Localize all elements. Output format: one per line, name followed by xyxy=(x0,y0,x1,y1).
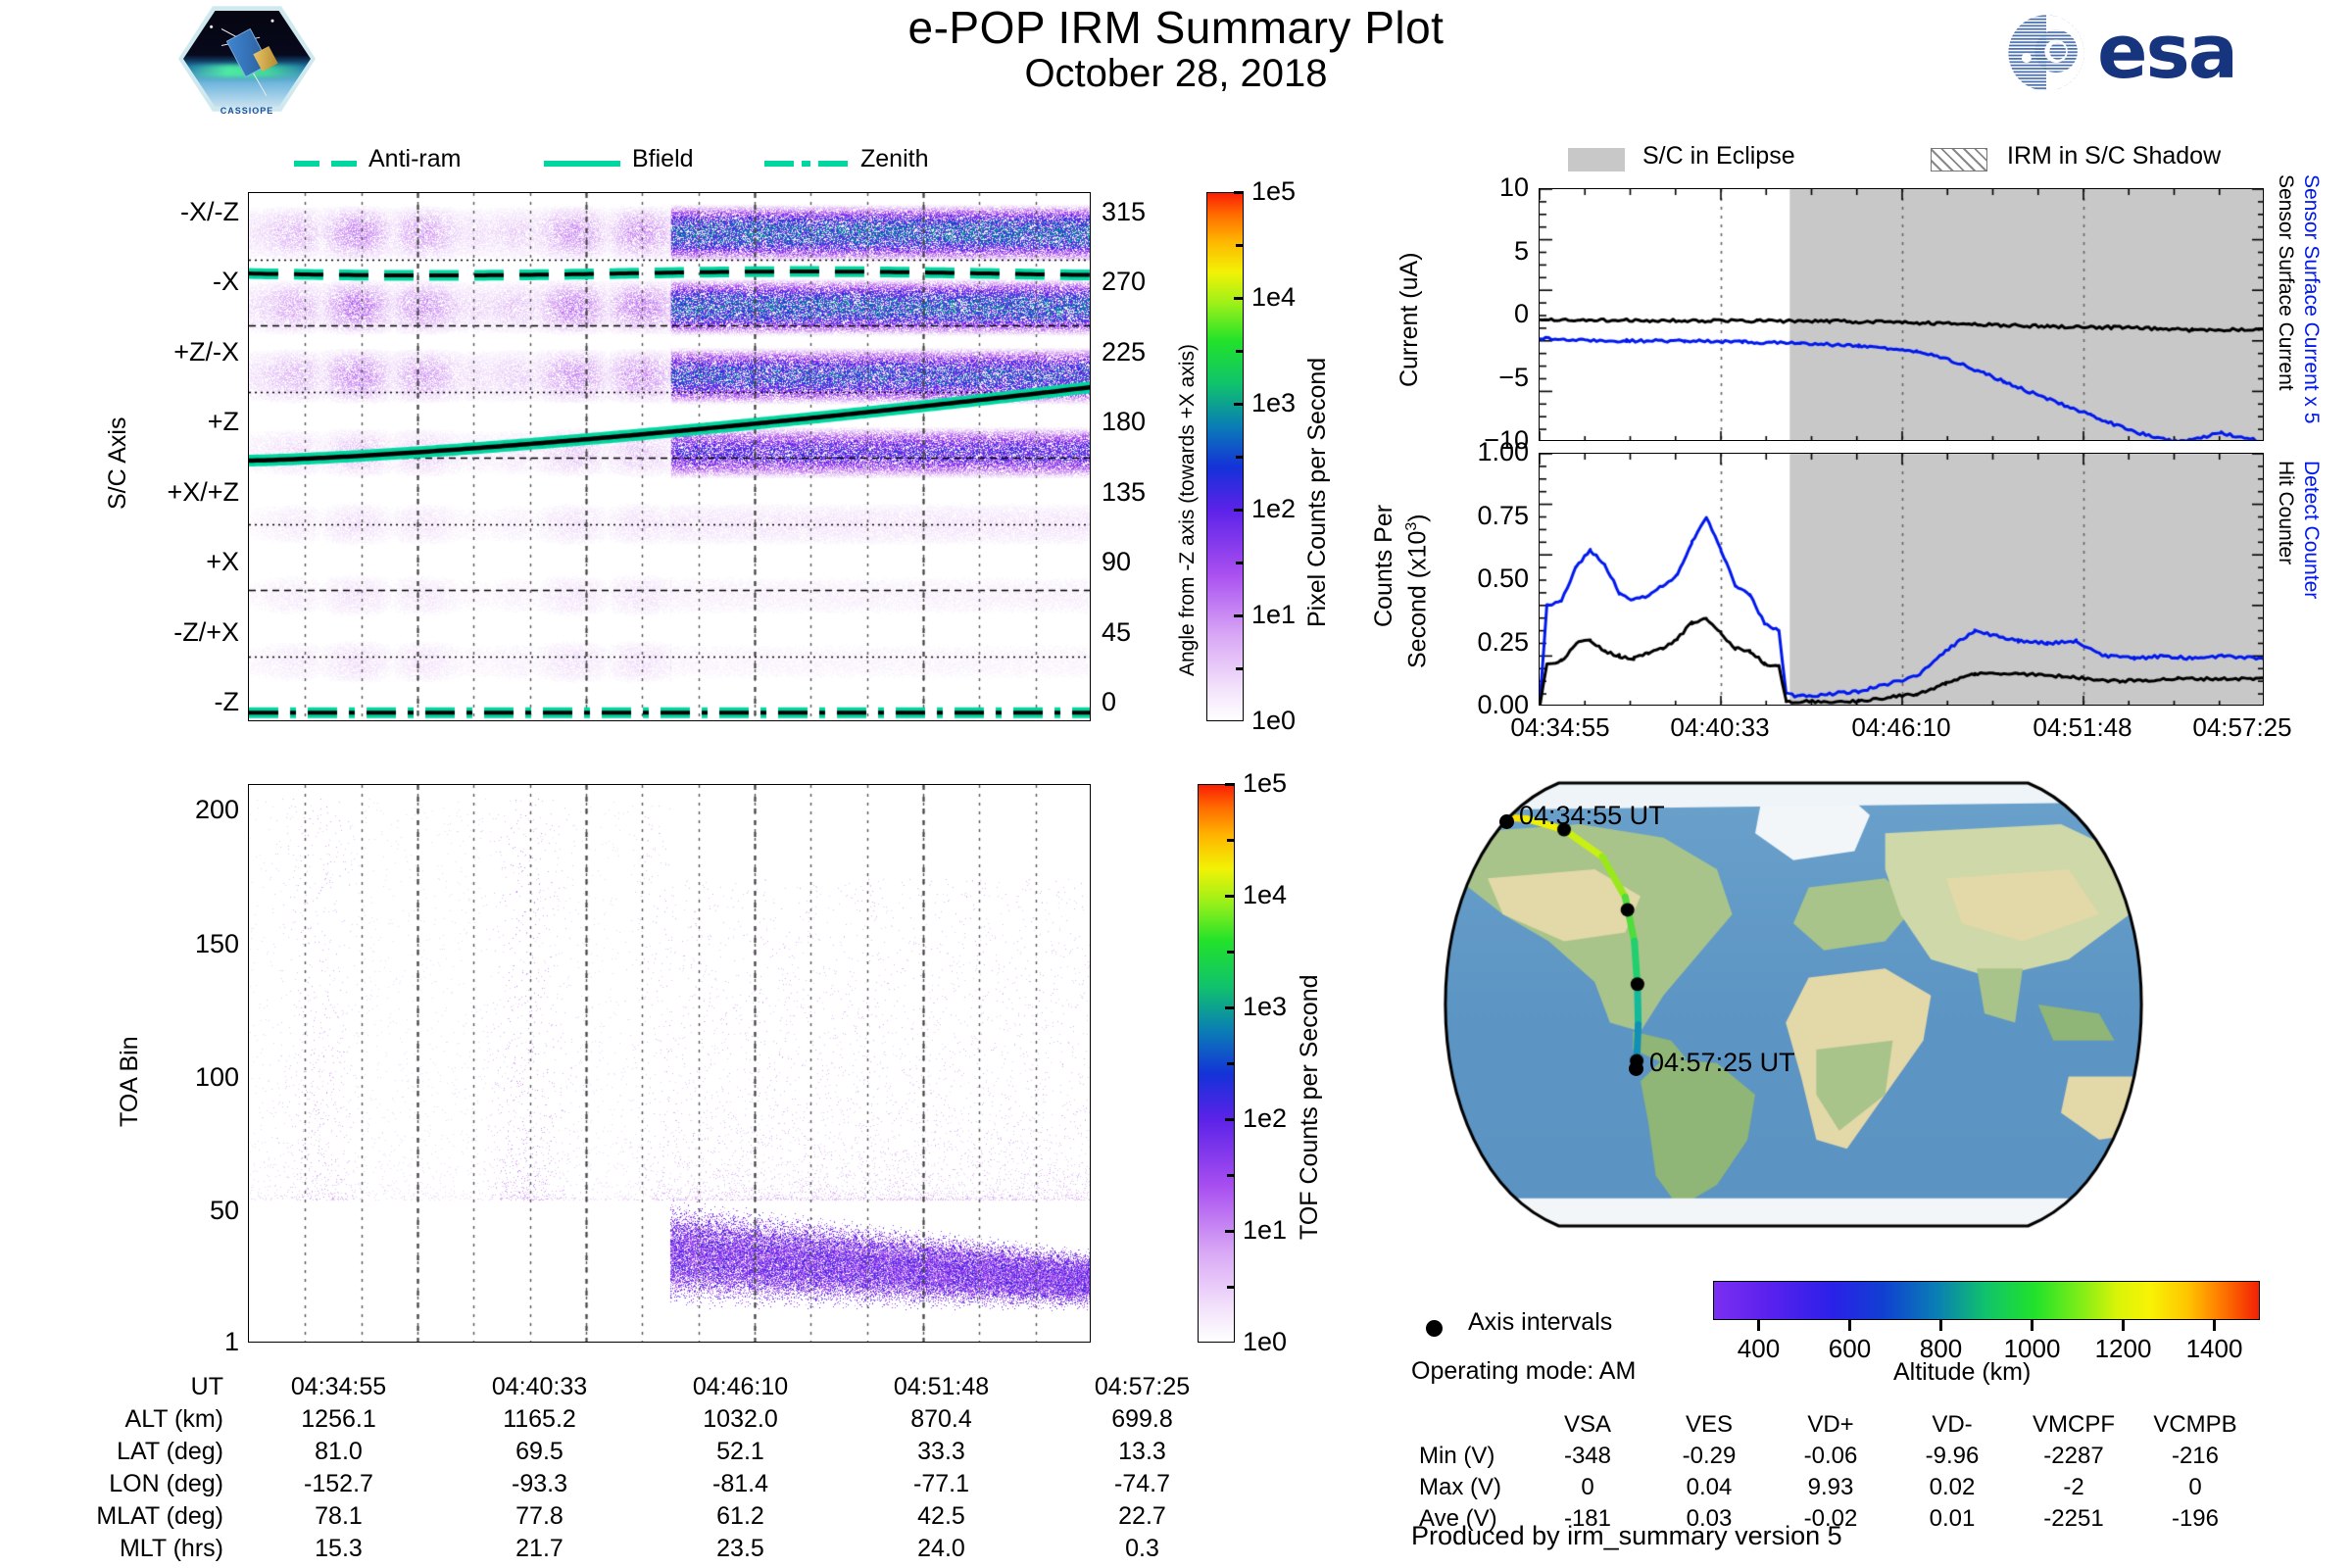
sc-axis-ytick-1: -X xyxy=(213,267,239,297)
spectrogram-legend: Anti-ram Bfield Zenith xyxy=(294,145,1000,184)
tof-cbar-minortick-0 xyxy=(1227,1286,1235,1289)
legend-label-irm-shadow: IRM in S/C Shadow xyxy=(2007,142,2221,171)
altitude-cbar-ticklabel-0: 400 xyxy=(1738,1334,1780,1364)
counts-ytick-3: 0.25 xyxy=(1477,627,1529,658)
voltage-table-cell: 0.02 xyxy=(1891,1472,2013,1503)
orbit-table-cell: 21.7 xyxy=(440,1534,639,1564)
tof-cbar-ticklabel-5: 1e5 xyxy=(1243,768,1287,799)
toa-ytick-4: 200 xyxy=(195,795,239,825)
voltage-table-cell: 0.04 xyxy=(1648,1472,1770,1503)
toa-ytick-3: 150 xyxy=(195,929,239,959)
altitude-cbar-tickmark-1 xyxy=(1848,1320,1851,1331)
legend-label-anti-ram: Anti-ram xyxy=(368,145,461,173)
voltage-table-colheader: VSA xyxy=(1527,1409,1648,1441)
legend-swatch-anti-ram xyxy=(294,161,319,167)
counts-xtick-2: 04:46:10 xyxy=(1851,712,1950,743)
orbit-table-cell: 04:34:55 xyxy=(239,1372,438,1402)
tof-cbar-tickmark-1 xyxy=(1225,1230,1235,1233)
voltage-table-cell: -2287 xyxy=(2013,1441,2134,1472)
legend-label-bfield: Bfield xyxy=(632,145,694,173)
orbit-table-cell: 78.1 xyxy=(239,1501,438,1532)
sc-axis-ylabel: S/C Axis xyxy=(104,417,132,510)
orbit-table-cell: 0.3 xyxy=(1043,1534,1242,1564)
angle-ytick-2: 225 xyxy=(1102,337,1146,367)
footer-text: Produced by irm_summary version 5 xyxy=(1411,1521,1842,1551)
current-plot-canvas xyxy=(1540,189,2264,441)
orbit-table-rowlabel: UT xyxy=(71,1372,237,1402)
orbit-table-cell: 04:57:25 xyxy=(1043,1372,1242,1402)
voltage-table-cell: -0.06 xyxy=(1770,1441,1891,1472)
pixel-cbar-tickmark-4 xyxy=(1234,297,1244,300)
tof-cbar-minortick-2 xyxy=(1227,1062,1235,1065)
altitude-cbar-ticklabel-5: 1400 xyxy=(2186,1334,2243,1364)
world-map-canvas xyxy=(1411,779,2176,1230)
legend-swatch-eclipse xyxy=(1568,148,1625,171)
voltage-table-header-row: VSAVESVD+VD-VMCPFVCMPB xyxy=(1419,1409,2256,1441)
voltage-table-colheader: VD- xyxy=(1891,1409,2013,1441)
toa-ytick-2: 100 xyxy=(195,1062,239,1093)
current-panel[interactable] xyxy=(1539,188,2264,441)
orbit-table-cell: 61.2 xyxy=(641,1501,840,1532)
orbit-table-rowlabel: LON (deg) xyxy=(71,1469,237,1499)
voltage-table-colheader: VCMPB xyxy=(2134,1409,2256,1441)
orbit-table-cell: 04:40:33 xyxy=(440,1372,639,1402)
esa-logo: esa xyxy=(2003,10,2278,96)
counts-right-label-black: Hit Counter xyxy=(2274,461,2297,564)
pixel-cbar-ticklabel-0: 1e0 xyxy=(1251,706,1296,736)
counts-panel[interactable] xyxy=(1539,453,2264,706)
orbit-table-cell: -74.7 xyxy=(1043,1469,1242,1499)
orbit-table-cell: 24.0 xyxy=(842,1534,1041,1564)
legend-label-eclipse: S/C in Eclipse xyxy=(1642,142,1795,171)
orbit-table-cell: 15.3 xyxy=(239,1534,438,1564)
orbit-table-cell: 81.0 xyxy=(239,1437,438,1467)
voltage-table-colheader: VES xyxy=(1648,1409,1770,1441)
pixel-cbar-minortick-3 xyxy=(1236,350,1244,353)
axis-interval-marker-icon xyxy=(1426,1320,1443,1337)
map-end-marker xyxy=(1629,1061,1643,1076)
orbit-table-cell: 04:51:48 xyxy=(842,1372,1041,1402)
angle-ytick-7: 0 xyxy=(1102,687,1116,717)
sc-axis-ytick-5: +X xyxy=(206,547,239,577)
page-subtitle: October 28, 2018 xyxy=(0,51,2352,96)
orbit-parameter-table: UT04:34:5504:40:3304:46:1004:51:4804:57:… xyxy=(69,1370,1244,1566)
orbit-table-cell: 52.1 xyxy=(641,1437,840,1467)
orbit-table-cell: 870.4 xyxy=(842,1404,1041,1435)
altitude-colorbar-label: Altitude (km) xyxy=(1893,1358,2031,1387)
orbit-table-cell: 42.5 xyxy=(842,1501,1041,1532)
counts-xtick-1: 04:40:33 xyxy=(1670,712,1769,743)
angle-ytick-5: 90 xyxy=(1102,547,1131,577)
orbit-table-row: MLT (hrs)15.321.723.524.00.3 xyxy=(71,1534,1242,1564)
altitude-cbar-ticklabel-4: 1200 xyxy=(2095,1334,2152,1364)
voltage-table-cell: -2 xyxy=(2013,1472,2134,1503)
orbit-table-row: LON (deg)-152.7-93.3-81.4-77.1-74.7 xyxy=(71,1469,1242,1499)
pixel-counts-colorbar-label: Pixel Counts per Second xyxy=(1303,358,1332,627)
current-ytick-1: 5 xyxy=(1514,236,1529,267)
altitude-cbar-tickmark-3 xyxy=(2031,1320,2033,1331)
current-ytick-2: 0 xyxy=(1514,299,1529,329)
toa-bin-ylabel: TOA Bin xyxy=(116,1036,144,1127)
tof-cbar-ticklabel-1: 1e1 xyxy=(1243,1215,1287,1246)
voltage-table-cell: -9.96 xyxy=(1891,1441,2013,1472)
orbit-table-row: UT04:34:5504:40:3304:46:1004:51:4804:57:… xyxy=(71,1372,1242,1402)
voltage-table-cell: -0.29 xyxy=(1648,1441,1770,1472)
pixel-cbar-minortick-2 xyxy=(1236,456,1244,459)
pixel-cbar-ticklabel-5: 1e5 xyxy=(1251,176,1296,207)
orbit-table-cell: 13.3 xyxy=(1043,1437,1242,1467)
map-start-label: 04:34:55 UT xyxy=(1519,801,1665,831)
tof-cbar-ticklabel-0: 1e0 xyxy=(1243,1327,1287,1357)
orbit-table-rowlabel: MLT (hrs) xyxy=(71,1534,237,1564)
pixel-cbar-tickmark-5 xyxy=(1234,191,1244,194)
pixel-cbar-tickmark-2 xyxy=(1234,509,1244,512)
angle-ytick-3: 180 xyxy=(1102,407,1146,437)
voltage-table-colheader: VD+ xyxy=(1770,1409,1891,1441)
sc-axis-ytick-6: -Z/+X xyxy=(173,617,239,648)
current-ylabel: Current (uA) xyxy=(1396,252,1424,387)
current-right-label-black: Sensor Surface Current xyxy=(2274,174,2297,391)
toa-bin-spectrogram-canvas xyxy=(249,785,1091,1343)
legend-swatch-anti-ram-2 xyxy=(331,161,357,167)
tof-cbar-ticklabel-2: 1e2 xyxy=(1243,1103,1287,1134)
orbit-table-cell: 1032.0 xyxy=(641,1404,840,1435)
angle-axis-label: Angle from -Z axis (towards +X axis) xyxy=(1176,344,1200,676)
sc-axis-ytick-2: +Z/-X xyxy=(173,337,239,367)
legend-swatch-zenith-dot xyxy=(802,161,810,167)
orbit-table-cell: -152.7 xyxy=(239,1469,438,1499)
counts-ytick-2: 0.50 xyxy=(1477,563,1529,594)
operating-mode-label: Operating mode: AM xyxy=(1411,1357,1636,1386)
counts-ylabel-line1: Counts Per xyxy=(1370,505,1398,627)
toa-ytick-0: 1 xyxy=(224,1327,239,1357)
orbit-ground-track-map[interactable]: 04:34:55 UT 04:57:25 UT xyxy=(1411,779,2176,1230)
current-ytick-0: 10 xyxy=(1499,172,1529,203)
angle-ytick-6: 45 xyxy=(1102,617,1131,648)
counts-ytick-0: 1.00 xyxy=(1477,437,1529,467)
tof-cbar-tickmark-3 xyxy=(1225,1006,1235,1009)
voltage-table-colheader: VMCPF xyxy=(2013,1409,2134,1441)
voltage-table-cell: -196 xyxy=(2134,1503,2256,1535)
pixel-cbar-minortick-1 xyxy=(1236,562,1244,564)
altitude-cbar-tickmark-0 xyxy=(1757,1320,1760,1331)
tof-cbar-minortick-4 xyxy=(1227,839,1235,842)
current-right-label-blue: Sensor Surface Current x 5 xyxy=(2299,174,2323,423)
orbit-table-rowlabel: ALT (km) xyxy=(71,1404,237,1435)
orbit-table-cell: -77.1 xyxy=(842,1469,1041,1499)
legend-swatch-zenith xyxy=(764,161,794,167)
voltage-table-rowlabel: Max (V) xyxy=(1419,1472,1527,1503)
page-title: e-POP IRM Summary Plot xyxy=(0,4,2352,51)
pixel-cbar-ticklabel-3: 1e3 xyxy=(1251,388,1296,418)
pixel-cbar-ticklabel-1: 1e1 xyxy=(1251,600,1296,630)
voltage-table-cell: 0 xyxy=(1527,1472,1648,1503)
orbit-table-cell: 77.8 xyxy=(440,1501,639,1532)
current-ytick-3: −5 xyxy=(1498,363,1529,393)
orbit-table-cell: 1165.2 xyxy=(440,1404,639,1435)
pixel-cbar-ticklabel-2: 1e2 xyxy=(1251,494,1296,524)
voltage-table-cell: 0.01 xyxy=(1891,1503,2013,1535)
counts-xtick-0: 04:34:55 xyxy=(1510,712,1609,743)
angle-ytick-0: 315 xyxy=(1102,197,1146,227)
legend-swatch-zenith-2 xyxy=(818,161,848,167)
orbit-table-cell: 699.8 xyxy=(1043,1404,1242,1435)
orbit-table-cell: 23.5 xyxy=(641,1534,840,1564)
counts-ytick-1: 0.75 xyxy=(1477,501,1529,531)
sc-axis-spectrogram-panel[interactable] xyxy=(248,192,1091,721)
esa-wordmark: esa xyxy=(2097,8,2236,95)
voltage-table-row: Max (V)00.049.930.02-20 xyxy=(1419,1472,2256,1503)
voltage-table-cell: -348 xyxy=(1527,1441,1648,1472)
altitude-colorbar xyxy=(1713,1281,2260,1320)
orbit-table-row: MLAT (deg)78.177.861.242.522.7 xyxy=(71,1501,1242,1532)
legend-swatch-bfield xyxy=(544,161,620,167)
tof-cbar-tickmark-4 xyxy=(1225,895,1235,898)
orbit-table-cell: 69.5 xyxy=(440,1437,639,1467)
pixel-cbar-tickmark-1 xyxy=(1234,614,1244,617)
legend-label-zenith: Zenith xyxy=(860,145,928,173)
orbit-table-rowlabel: MLAT (deg) xyxy=(71,1501,237,1532)
orbit-table-cell: -93.3 xyxy=(440,1469,639,1499)
orbit-table-cell: -81.4 xyxy=(641,1469,840,1499)
pixel-cbar-tickmark-3 xyxy=(1234,403,1244,406)
pixel-cbar-ticklabel-4: 1e4 xyxy=(1251,282,1296,313)
orbit-table-cell: 33.3 xyxy=(842,1437,1041,1467)
altitude-cbar-tickmark-4 xyxy=(2122,1320,2125,1331)
map-start-marker xyxy=(1499,814,1514,829)
voltage-table-cell: 0 xyxy=(2134,1472,2256,1503)
tof-cbar-minortick-1 xyxy=(1227,1174,1235,1177)
cassiope-mission-logo: CASSIOPE xyxy=(178,4,316,114)
sc-axis-ytick-4: +X/+Z xyxy=(167,477,239,508)
orbit-table-cell: 22.7 xyxy=(1043,1501,1242,1532)
orbit-table-cell: 04:46:10 xyxy=(641,1372,840,1402)
header-title-block: e-POP IRM Summary Plot October 28, 2018 xyxy=(0,4,2352,96)
voltage-table-cell: -216 xyxy=(2134,1441,2256,1472)
eclipse-legend: S/C in Eclipse IRM in S/C Shadow xyxy=(1568,142,2332,181)
map-end-label: 04:57:25 UT xyxy=(1649,1048,1795,1078)
voltage-table-cell: -2251 xyxy=(2013,1503,2134,1535)
voltage-table-rowlabel: Min (V) xyxy=(1419,1441,1527,1472)
counts-right-label-blue: Detect Counter xyxy=(2299,461,2323,599)
altitude-cbar-ticklabel-1: 600 xyxy=(1829,1334,1871,1364)
counts-ylabel-line2: Second (x103) xyxy=(1403,514,1432,668)
voltage-table-cell: 9.93 xyxy=(1770,1472,1891,1503)
altitude-cbar-tickmark-5 xyxy=(2213,1320,2216,1331)
orbit-table-row: ALT (km)1256.11165.21032.0870.4699.8 xyxy=(71,1404,1242,1435)
voltage-table-row: Min (V)-348-0.29-0.06-9.96-2287-216 xyxy=(1419,1441,2256,1472)
tof-cbar-tickmark-5 xyxy=(1225,783,1235,786)
sc-axis-ytick-0: -X/-Z xyxy=(180,197,239,227)
esa-emblem-icon xyxy=(2003,12,2089,94)
voltage-table-corner xyxy=(1419,1409,1527,1441)
tof-cbar-minortick-3 xyxy=(1227,951,1235,954)
toa-bin-spectrogram-panel[interactable] xyxy=(248,784,1091,1343)
legend-swatch-irm-shadow xyxy=(1931,148,1987,171)
tof-cbar-ticklabel-4: 1e4 xyxy=(1243,880,1287,910)
counts-plot-canvas xyxy=(1540,454,2264,706)
altitude-cbar-tickmark-2 xyxy=(1939,1320,1942,1331)
tof-cbar-ticklabel-3: 1e3 xyxy=(1243,992,1287,1022)
counts-xtick-4: 04:57:25 xyxy=(2192,712,2291,743)
sc-axis-ytick-7: -Z xyxy=(215,687,239,717)
pixel-cbar-minortick-0 xyxy=(1236,667,1244,670)
cassiope-logo-caption: CASSIOPE xyxy=(178,106,316,116)
axis-intervals-legend-label: Axis intervals xyxy=(1468,1308,1612,1337)
pixel-cbar-minortick-4 xyxy=(1236,244,1244,247)
voltage-summary-table: VSAVESVD+VD-VMCPFVCMPBMin (V)-348-0.29-0… xyxy=(1419,1409,2256,1535)
tof-counts-colorbar-label: TOF Counts per Second xyxy=(1296,974,1324,1240)
sc-axis-spectrogram-canvas xyxy=(249,193,1091,721)
counts-xtick-3: 04:51:48 xyxy=(2033,712,2131,743)
tof-cbar-tickmark-2 xyxy=(1225,1118,1235,1121)
orbit-table-cell: 1256.1 xyxy=(239,1404,438,1435)
orbit-table-rowlabel: LAT (deg) xyxy=(71,1437,237,1467)
angle-ytick-4: 135 xyxy=(1102,477,1146,508)
angle-ytick-1: 270 xyxy=(1102,267,1146,297)
sc-axis-ytick-3: +Z xyxy=(208,407,239,437)
orbit-table-row: LAT (deg)81.069.552.133.313.3 xyxy=(71,1437,1242,1467)
toa-ytick-1: 50 xyxy=(210,1196,239,1226)
